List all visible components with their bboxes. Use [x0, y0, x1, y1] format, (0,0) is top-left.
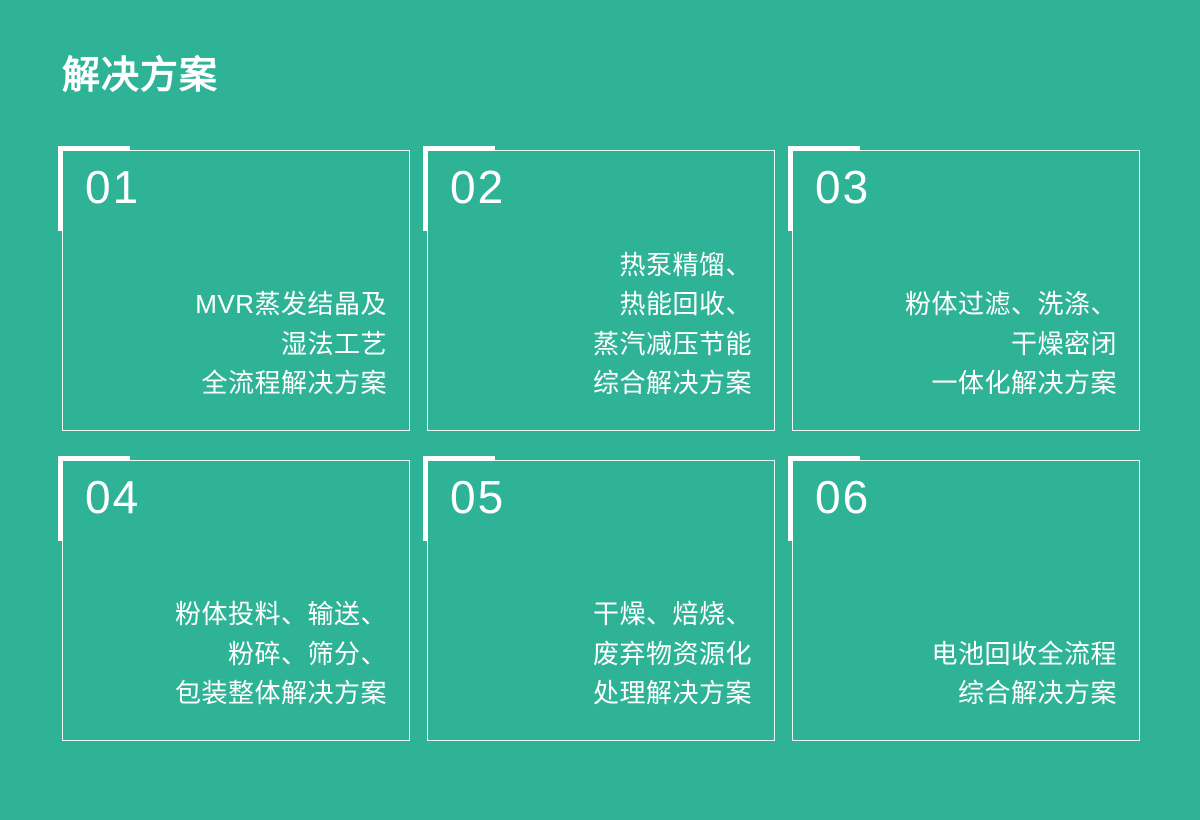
page-title: 解决方案 — [62, 54, 218, 100]
card-body: 热泵精馏、 热能回收、 蒸汽减压节能 综合解决方案 — [446, 246, 752, 404]
corner-accent-top-icon — [788, 146, 860, 151]
card-body-line: 全流程解决方案 — [81, 364, 387, 404]
corner-accent-top-icon — [423, 146, 495, 151]
corner-accent-top-icon — [423, 456, 495, 461]
card-number: 06 — [815, 474, 870, 520]
solution-card-01[interactable]: 01 MVR蒸发结晶及 湿法工艺 全流程解决方案 — [62, 150, 410, 431]
card-body-line: 一体化解决方案 — [811, 364, 1117, 404]
card-body: 粉体投料、输送、 粉碎、筛分、 包装整体解决方案 — [81, 595, 387, 714]
solution-card-02[interactable]: 02 热泵精馏、 热能回收、 蒸汽减压节能 综合解决方案 — [427, 150, 775, 431]
card-body-line: 粉碎、筛分、 — [81, 635, 387, 675]
card-body-line: 电池回收全流程 — [811, 635, 1117, 675]
solution-card-05[interactable]: 05 干燥、焙烧、 废弃物资源化 处理解决方案 — [427, 460, 775, 741]
card-body: 电池回收全流程 综合解决方案 — [811, 635, 1117, 714]
solutions-slide: 解决方案 01 MVR蒸发结晶及 湿法工艺 全流程解决方案 02 热泵精馏、 热… — [0, 0, 1200, 820]
card-body-line: 干燥、焙烧、 — [446, 595, 752, 635]
corner-accent-left-icon — [788, 146, 793, 231]
card-body-line: 热泵精馏、 — [446, 246, 752, 286]
card-body: 粉体过滤、洗涤、 干燥密闭 一体化解决方案 — [811, 285, 1117, 404]
card-body-line: 湿法工艺 — [81, 325, 387, 365]
card-body-line: 包装整体解决方案 — [81, 674, 387, 714]
card-number: 02 — [450, 164, 505, 210]
card-body-line: 干燥密闭 — [811, 325, 1117, 365]
card-body: 干燥、焙烧、 废弃物资源化 处理解决方案 — [446, 595, 752, 714]
corner-accent-left-icon — [423, 146, 428, 231]
solution-card-03[interactable]: 03 粉体过滤、洗涤、 干燥密闭 一体化解决方案 — [792, 150, 1140, 431]
corner-accent-top-icon — [58, 146, 130, 151]
corner-accent-top-icon — [58, 456, 130, 461]
card-body-line: 热能回收、 — [446, 285, 752, 325]
card-body-line: 处理解决方案 — [446, 674, 752, 714]
card-body: MVR蒸发结晶及 湿法工艺 全流程解决方案 — [81, 285, 387, 404]
corner-accent-left-icon — [788, 456, 793, 541]
card-number: 05 — [450, 474, 505, 520]
solution-card-04[interactable]: 04 粉体投料、输送、 粉碎、筛分、 包装整体解决方案 — [62, 460, 410, 741]
card-body-line: 废弃物资源化 — [446, 635, 752, 675]
corner-accent-left-icon — [423, 456, 428, 541]
card-number: 01 — [85, 164, 140, 210]
card-body-line: 综合解决方案 — [811, 674, 1117, 714]
card-body-line: 粉体过滤、洗涤、 — [811, 285, 1117, 325]
card-body-line: 蒸汽减压节能 — [446, 325, 752, 365]
solution-card-grid: 01 MVR蒸发结晶及 湿法工艺 全流程解决方案 02 热泵精馏、 热能回收、 … — [62, 150, 1140, 741]
card-number: 03 — [815, 164, 870, 210]
card-body-line: MVR蒸发结晶及 — [81, 285, 387, 325]
corner-accent-top-icon — [788, 456, 860, 461]
solution-card-06[interactable]: 06 电池回收全流程 综合解决方案 — [792, 460, 1140, 741]
card-body-line: 粉体投料、输送、 — [81, 595, 387, 635]
card-body-line: 综合解决方案 — [446, 364, 752, 404]
corner-accent-left-icon — [58, 456, 63, 541]
card-number: 04 — [85, 474, 140, 520]
corner-accent-left-icon — [58, 146, 63, 231]
